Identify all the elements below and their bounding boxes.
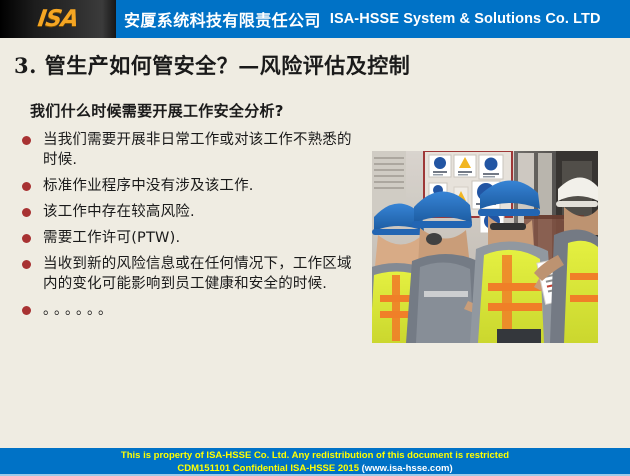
slide-subtitle: 我们什么时候需要开展工作安全分析? [30,100,284,121]
bullet-text: 当我们需要开展非日常工作或对该工作不熟悉的时候. [43,130,352,170]
list-item: 当收到新的风险信息或在任何情况下，工作区域内的变化可能影响到员工健康和安全的时候… [22,254,352,294]
bullet-dot-icon [22,182,31,191]
list-item: 需要工作许可(PTW). [22,228,352,248]
footer-website-link[interactable]: (www.isa-hsse.com) [362,463,453,474]
isa-logo-text: ISA [36,6,80,32]
worksite-safety-photo [372,151,598,343]
list-item: 。。。。。。 [22,300,352,320]
bullet-dot-icon [22,136,31,145]
bullet-dot-icon [22,306,31,315]
bullet-list: 当我们需要开展非日常工作或对该工作不熟悉的时候. 标准作业程序中没有涉及该工作.… [22,130,352,326]
photo-illustration [372,151,598,343]
header-company-names: 安厦系统科技有限责任公司 ISA-HSSE System & Solutions… [124,0,601,38]
presentation-slide: ISA 安厦系统科技有限责任公司 ISA-HSSE System & Solut… [0,0,630,476]
isa-logo: ISA [0,0,116,38]
slide-footer: This is property of ISA-HSSE Co. Ltd. An… [0,448,630,474]
bullet-text: 当收到新的风险信息或在任何情况下，工作区域内的变化可能影响到员工健康和安全的时候… [43,254,352,294]
slide-body: 3. 管生产如何管安全？—风险评估及控制 我们什么时候需要开展工作安全分析? 当… [0,38,630,448]
slide-header: ISA 安厦系统科技有限责任公司 ISA-HSSE System & Solut… [0,0,630,38]
list-item: 该工作中存在较高风险. [22,202,352,222]
list-item: 标准作业程序中没有涉及该工作. [22,176,352,196]
company-name-english: ISA-HSSE System & Solutions Co. LTD [330,11,601,27]
footer-document-id: CDM151101 Confidential ISA-HSSE 2015 [177,463,361,474]
bullet-dot-icon [22,208,31,217]
slide-title: 3. 管生产如何管安全？—风险评估及控制 [14,50,410,80]
bullet-text: 标准作业程序中没有涉及该工作. [43,176,254,196]
bullet-text: 该工作中存在较高风险. [43,202,195,222]
list-item: 当我们需要开展非日常工作或对该工作不熟悉的时候. [22,130,352,170]
bullet-dot-icon [22,234,31,243]
bullet-text: 需要工作许可(PTW). [43,228,180,248]
bullet-text: 。。。。。。 [43,300,116,320]
company-name-chinese: 安厦系统科技有限责任公司 [124,7,321,31]
footer-copyright-line: This is property of ISA-HSSE Co. Ltd. An… [0,449,630,462]
bullet-dot-icon [22,260,31,269]
